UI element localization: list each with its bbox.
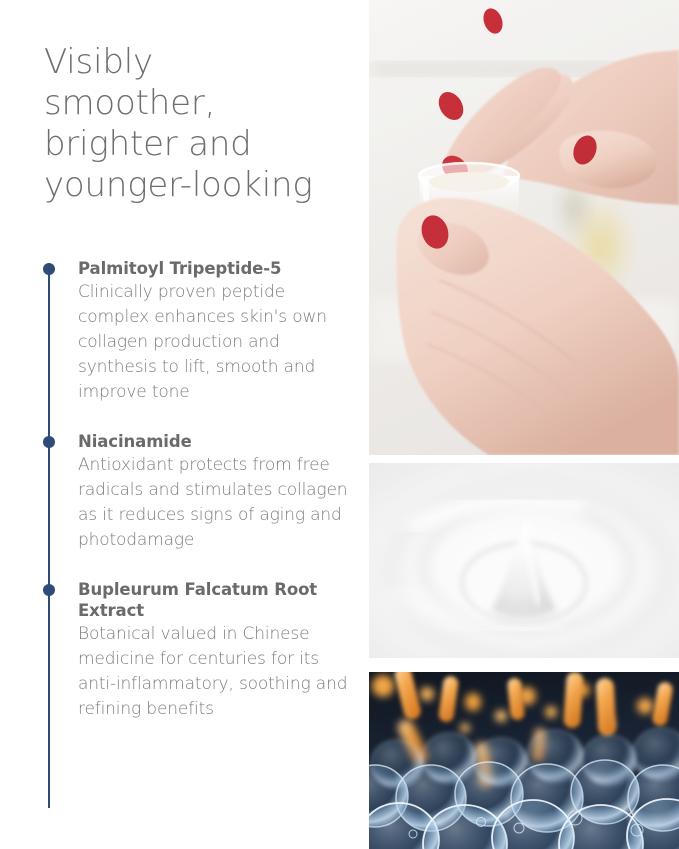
- ingredient-name: Bupleurum Falcatum Root Extract: [78, 579, 360, 621]
- list-item: Bupleurum Falcatum Root Extract Botanica…: [40, 579, 360, 722]
- ingredient-benefits-infographic: Visibly smoother, brighter and younger-l…: [0, 0, 679, 849]
- ingredient-description: Botanical valued in Chinese medicine for…: [78, 622, 360, 722]
- ingredient-description: Clinically proven peptide complex enhanc…: [78, 280, 360, 405]
- hands-applying-cream-photo: Caviar: [369, 0, 679, 455]
- page-title: Visibly smoother, brighter and younger-l…: [44, 42, 356, 206]
- list-item: Niacinamide Antioxidant protects from fr…: [40, 431, 360, 553]
- list-item: Palmitoyl Tripeptide-5 Clinically proven…: [40, 258, 360, 405]
- text-panel: Visibly smoother, brighter and younger-l…: [0, 0, 369, 849]
- ingredient-description: Antioxidant protects from free radicals …: [78, 453, 360, 553]
- bullet-dot-icon: [43, 584, 55, 596]
- photo-panel: Caviar: [369, 0, 679, 849]
- microscopic-molecules-photo: [369, 672, 679, 849]
- cream-texture-photo: [369, 463, 679, 658]
- bullet-dot-icon: [43, 436, 55, 448]
- bullet-dot-icon: [43, 263, 55, 275]
- ingredient-name: Palmitoyl Tripeptide-5: [78, 258, 360, 279]
- ingredient-name: Niacinamide: [78, 431, 360, 452]
- benefits-list: Palmitoyl Tripeptide-5 Clinically proven…: [40, 258, 360, 722]
